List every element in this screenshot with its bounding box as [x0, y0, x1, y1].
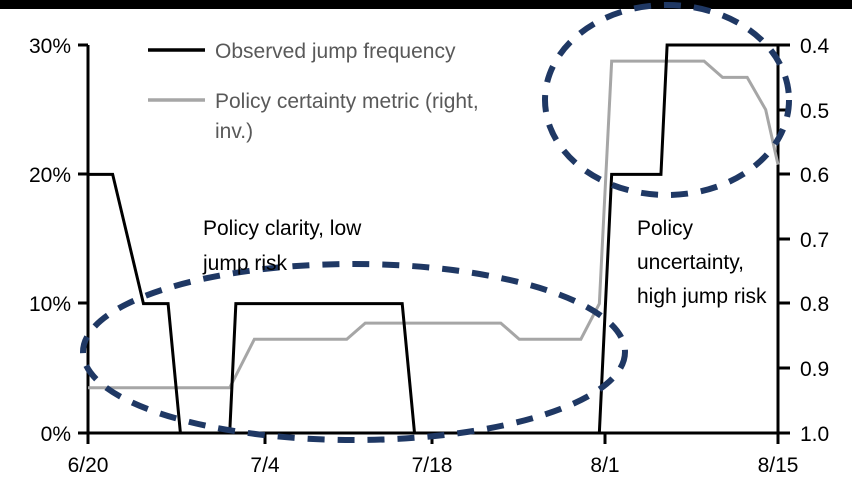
left-tick-0: 0%	[41, 423, 71, 446]
legend-label-policy-certainty-line2: inv.)	[215, 120, 253, 143]
legend-label-policy-certainty-line1: Policy certainty metric (right,	[215, 90, 479, 113]
right-tick-07: 0.7	[800, 229, 829, 252]
x-tick-3: 8/1	[590, 454, 619, 477]
left-annotation-line1: Policy clarity, low	[203, 217, 362, 240]
x-tick-1: 7/4	[250, 454, 280, 477]
left-tick-10: 10%	[29, 293, 71, 316]
right-annotation-line3: high jump risk	[637, 285, 767, 308]
x-tick-2: 7/18	[412, 454, 453, 477]
chart-root: 30% 20% 10% 0% 0.4 0.5 0.6 0.7 0.8 0.9 1…	[0, 0, 852, 481]
right-tick-09: 0.9	[800, 358, 829, 381]
x-tick-4: 8/15	[758, 454, 799, 477]
right-tick-06: 0.6	[800, 164, 829, 187]
left-tick-30: 30%	[29, 35, 71, 58]
right-tick-04: 0.4	[800, 35, 830, 58]
legend-label-observed-jump-frequency: Observed jump frequency	[215, 40, 456, 63]
chart-canvas: 30% 20% 10% 0% 0.4 0.5 0.6 0.7 0.8 0.9 1…	[0, 0, 852, 481]
legend: Observed jump frequency Policy certainty…	[148, 40, 479, 143]
left-tick-20: 20%	[29, 164, 71, 187]
right-annotation-line1: Policy	[637, 217, 694, 240]
right-tick-05: 0.5	[800, 100, 829, 123]
right-tick-10: 1.0	[800, 423, 829, 446]
left-annotation-line2: jump risk	[202, 252, 288, 275]
right-annotation: Policy uncertainty, high jump risk	[637, 217, 767, 308]
right-tick-08: 0.8	[800, 293, 829, 316]
left-highlight-ellipse	[83, 264, 625, 440]
right-highlight-ellipse	[545, 5, 789, 195]
right-annotation-line2: uncertainty,	[637, 251, 744, 274]
left-axis	[78, 45, 88, 433]
x-tick-0: 6/20	[68, 454, 109, 477]
